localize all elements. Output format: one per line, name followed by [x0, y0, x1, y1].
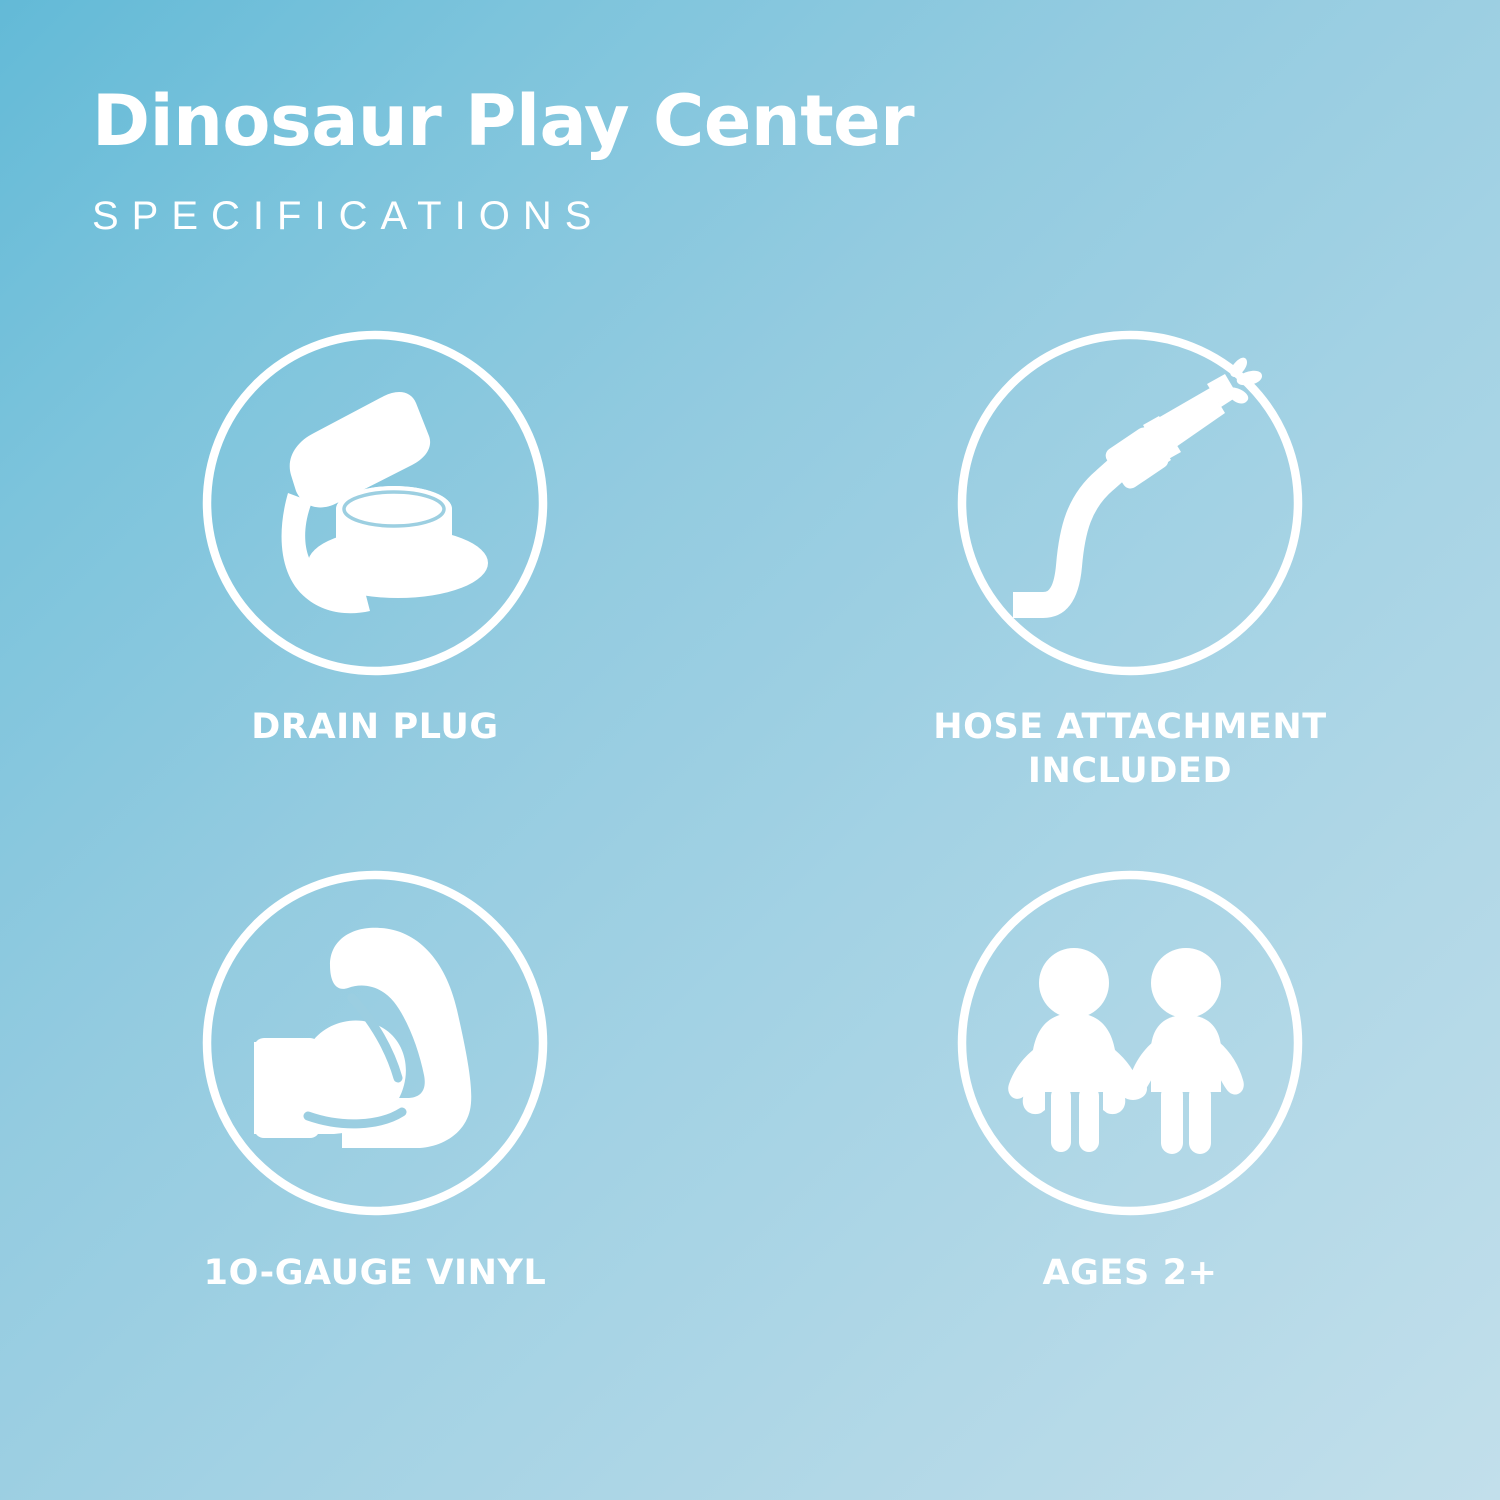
- spec-item-drain-plug: DRAIN PLUG: [0, 330, 750, 794]
- specifications-page: Dinosaur Play Center SPECIFICATIONS: [0, 0, 1500, 1500]
- hose-attachment-badge: [957, 330, 1303, 676]
- two-children-icon: [1008, 948, 1244, 1154]
- spec-label-vinyl-gauge: 1O-GAUGE VINYL: [204, 1252, 547, 1296]
- page-subtitle: SPECIFICATIONS: [92, 156, 1292, 236]
- spec-item-age-rating: AGES 2+: [750, 870, 1500, 1296]
- page-title: Dinosaur Play Center: [92, 86, 1292, 156]
- page-header: Dinosaur Play Center SPECIFICATIONS: [92, 86, 1292, 236]
- vinyl-gauge-badge: [202, 870, 548, 1216]
- flexed-bicep-icon: [254, 927, 471, 1147]
- spec-item-vinyl-gauge: 1O-GAUGE VINYL: [0, 870, 750, 1296]
- drain-plug-icon: [282, 392, 488, 613]
- specifications-grid: DRAIN PLUG: [0, 330, 1500, 1295]
- spec-label-hose-attachment: HOSE ATTACHMENT INCLUDED: [933, 706, 1327, 794]
- spec-label-drain-plug: DRAIN PLUG: [251, 706, 498, 750]
- drain-plug-badge: [202, 330, 548, 676]
- spec-item-hose-attachment: HOSE ATTACHMENT INCLUDED: [750, 330, 1500, 794]
- spec-label-age-rating: AGES 2+: [1043, 1252, 1218, 1296]
- hose-nozzle-icon: [1013, 358, 1262, 605]
- age-rating-badge: [957, 870, 1303, 1216]
